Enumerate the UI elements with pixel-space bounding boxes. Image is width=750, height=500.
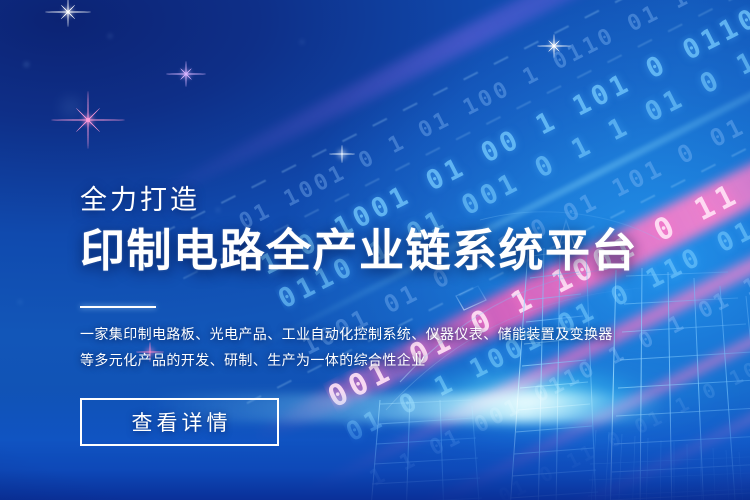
view-details-button[interactable]: 查看详情 bbox=[80, 398, 279, 446]
hero-description-line-1: 一家集印制电路板、光电产品、工业自动化控制系统、仪器仪表、储能装置及变换器 bbox=[80, 322, 680, 348]
hero-description: 一家集印制电路板、光电产品、工业自动化控制系统、仪器仪表、储能装置及变换器 等多… bbox=[80, 322, 680, 374]
hero-content: 全力打造 印制电路全产业链系统平台 一家集印制电路板、光电产品、工业自动化控制系… bbox=[80, 186, 680, 446]
dust-speck bbox=[24, 62, 29, 67]
hero-eyebrow: 全力打造 bbox=[80, 186, 680, 216]
dust-speck bbox=[60, 96, 82, 118]
dust-speck bbox=[108, 34, 112, 38]
hero-banner: 01 1001 0 1 01 100 1 0110 01 1 0 01 1 0 … bbox=[0, 0, 750, 500]
dust-speck bbox=[18, 300, 22, 304]
hero-description-line-2: 等多元化产品的开发、研制、生产为一体的综合性企业 bbox=[80, 348, 680, 374]
hero-headline: 印制电路全产业链系统平台 bbox=[80, 226, 680, 276]
hero-divider bbox=[80, 306, 156, 308]
